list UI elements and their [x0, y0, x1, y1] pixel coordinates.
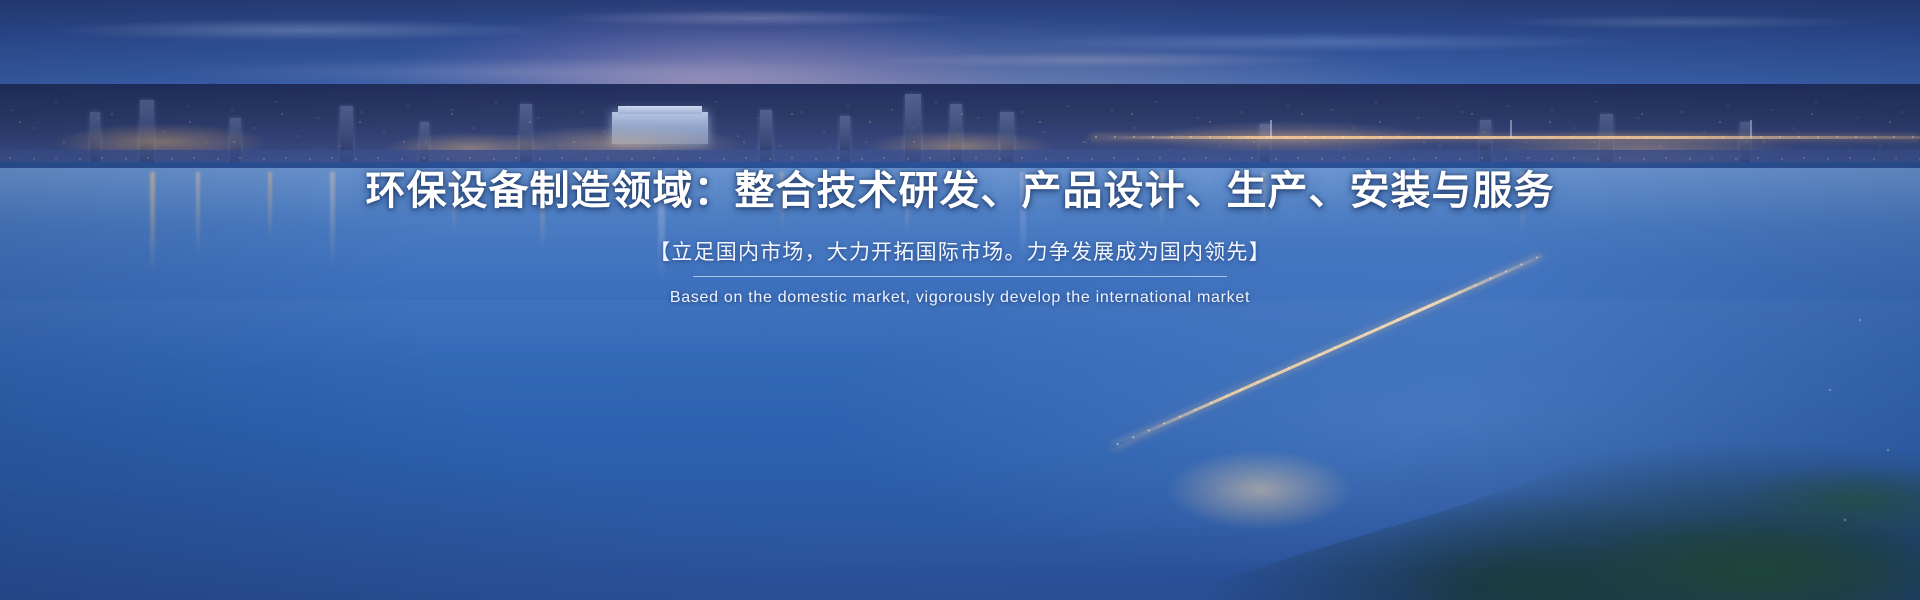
lit-bridge	[1090, 120, 1920, 154]
bridge-cable	[1750, 120, 1752, 138]
bridge-cable	[1270, 120, 1272, 138]
shoreline-lights	[0, 152, 1920, 166]
peninsula-lights	[1800, 300, 1920, 600]
bridge-cable	[1510, 120, 1512, 138]
water-light-reflections	[0, 172, 1920, 292]
bridge-lamps	[1090, 132, 1920, 142]
hero-banner: 环保设备制造领域：整合技术研发、产品设计、生产、安装与服务 【立足国内市场，大力…	[0, 0, 1920, 600]
